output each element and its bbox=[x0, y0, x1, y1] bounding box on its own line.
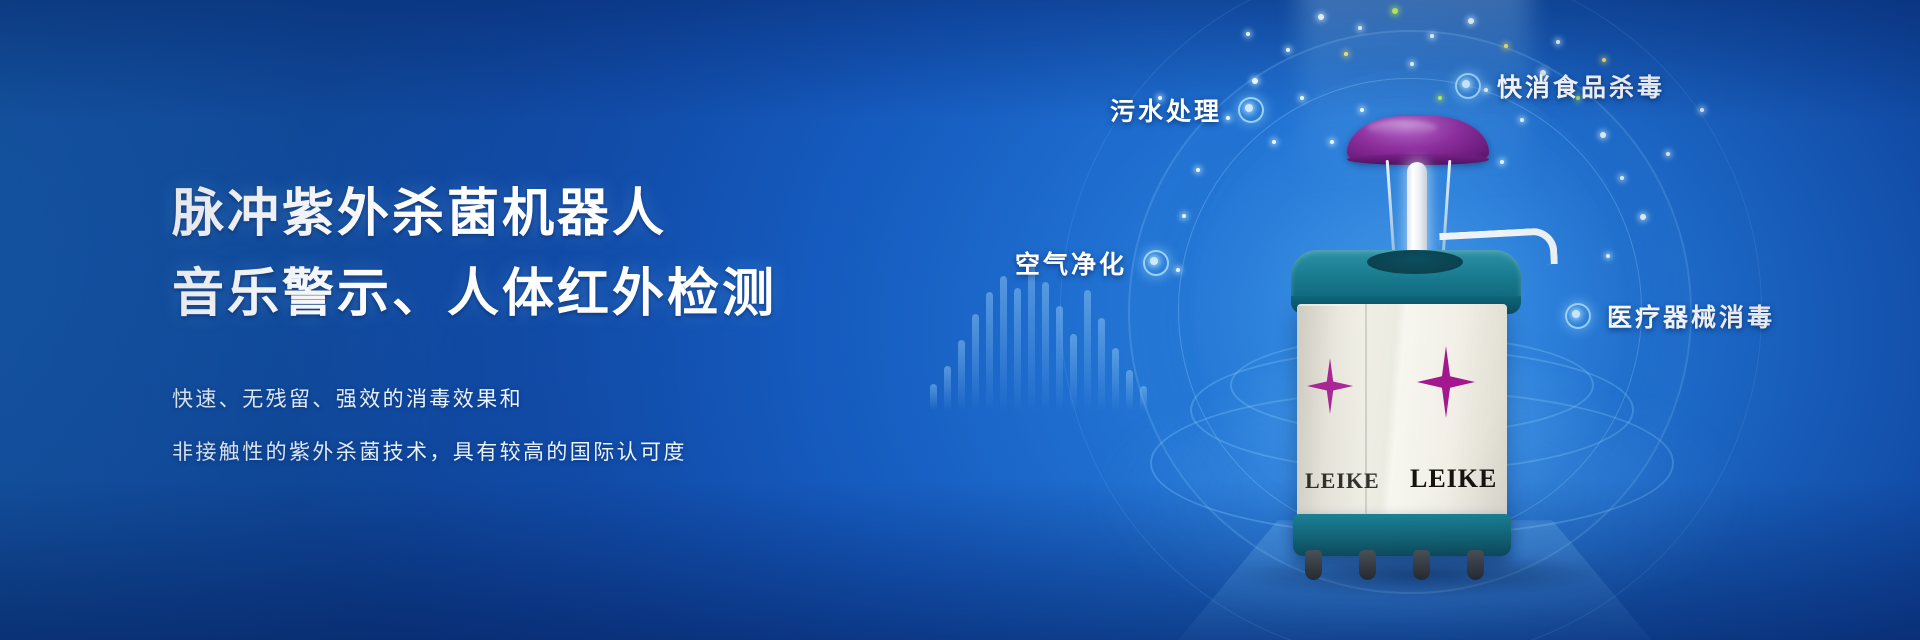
subtext-line-1: 快速、无残留、强效的消毒效果和 bbox=[172, 378, 932, 421]
background-bottom-shade bbox=[0, 480, 1920, 640]
robot-wheel bbox=[1305, 550, 1322, 580]
headline-secondary: 音乐警示、人体红外检测 bbox=[172, 258, 932, 332]
feature-label-sewage: 污水处理 bbox=[1110, 92, 1222, 128]
robot-top-recess bbox=[1367, 250, 1463, 274]
node-marker-icon bbox=[1455, 73, 1481, 99]
node-marker-icon bbox=[1238, 97, 1264, 123]
feature-label-air: 空气净化 bbox=[1015, 245, 1127, 281]
lamp-support-rod bbox=[1386, 160, 1396, 255]
feature-callout-medical: 医疗器械消毒 bbox=[1565, 298, 1775, 334]
subtext-line-2: 非接触性的紫外杀菌技术，具有较高的国际认可度 bbox=[172, 431, 932, 474]
node-marker-icon bbox=[1565, 303, 1591, 329]
brand-wordmark-right: LEIKE bbox=[1410, 464, 1497, 494]
brand-wordmark-left: LEIKE bbox=[1305, 468, 1380, 494]
node-marker-icon bbox=[1143, 250, 1169, 276]
feature-label-food: 快消食品杀毒 bbox=[1497, 68, 1665, 104]
robot-wheel bbox=[1467, 550, 1484, 580]
robot-wheel bbox=[1413, 550, 1430, 580]
uv-disinfection-robot: LEIKE LEIKE bbox=[1255, 110, 1575, 580]
feature-callout-air: 空气净化 bbox=[1015, 245, 1169, 281]
hero-text-block: 脉冲紫外杀菌机器人 音乐警示、人体红外检测 快速、无残留、强效的消毒效果和 非接… bbox=[172, 178, 932, 474]
robot-wheel bbox=[1359, 550, 1376, 580]
headline-primary: 脉冲紫外杀菌机器人 bbox=[172, 178, 932, 252]
feature-callout-sewage: 污水处理 bbox=[1110, 92, 1264, 128]
dome-highlight bbox=[1367, 120, 1437, 136]
uv-lamp-tube bbox=[1407, 162, 1427, 255]
feature-label-medical: 医疗器械消毒 bbox=[1607, 298, 1775, 334]
feature-callout-food: 快消食品杀毒 bbox=[1455, 68, 1665, 104]
hero-banner: LEIKE LEIKE 污水处理 快消食品杀毒 空气净化 医疗器械消毒 脉冲紫外… bbox=[0, 0, 1920, 640]
